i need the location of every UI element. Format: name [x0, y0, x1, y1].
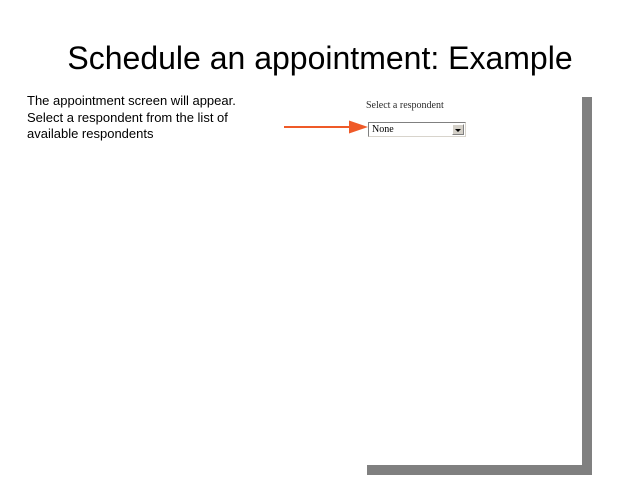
- capture-shadow-bottom: [367, 465, 592, 475]
- body-text: The appointment screen will appear. Sele…: [27, 93, 252, 143]
- page-title: Schedule an appointment: Example: [30, 38, 610, 78]
- slide-canvas: Schedule an appointment: Example The app…: [0, 0, 640, 480]
- pointer-arrow-icon: [283, 119, 369, 135]
- capture-shadow-right: [582, 97, 592, 475]
- caret-glyph: [455, 129, 461, 132]
- respondent-field-label: Select a respondent: [366, 100, 444, 112]
- capture-plate: Select a respondent None: [360, 93, 582, 465]
- respondent-select[interactable]: None: [368, 122, 466, 137]
- respondent-selected-value: None: [372, 124, 394, 135]
- chevron-down-icon[interactable]: [452, 124, 464, 135]
- screenshot-capture: Select a respondent None: [360, 93, 592, 475]
